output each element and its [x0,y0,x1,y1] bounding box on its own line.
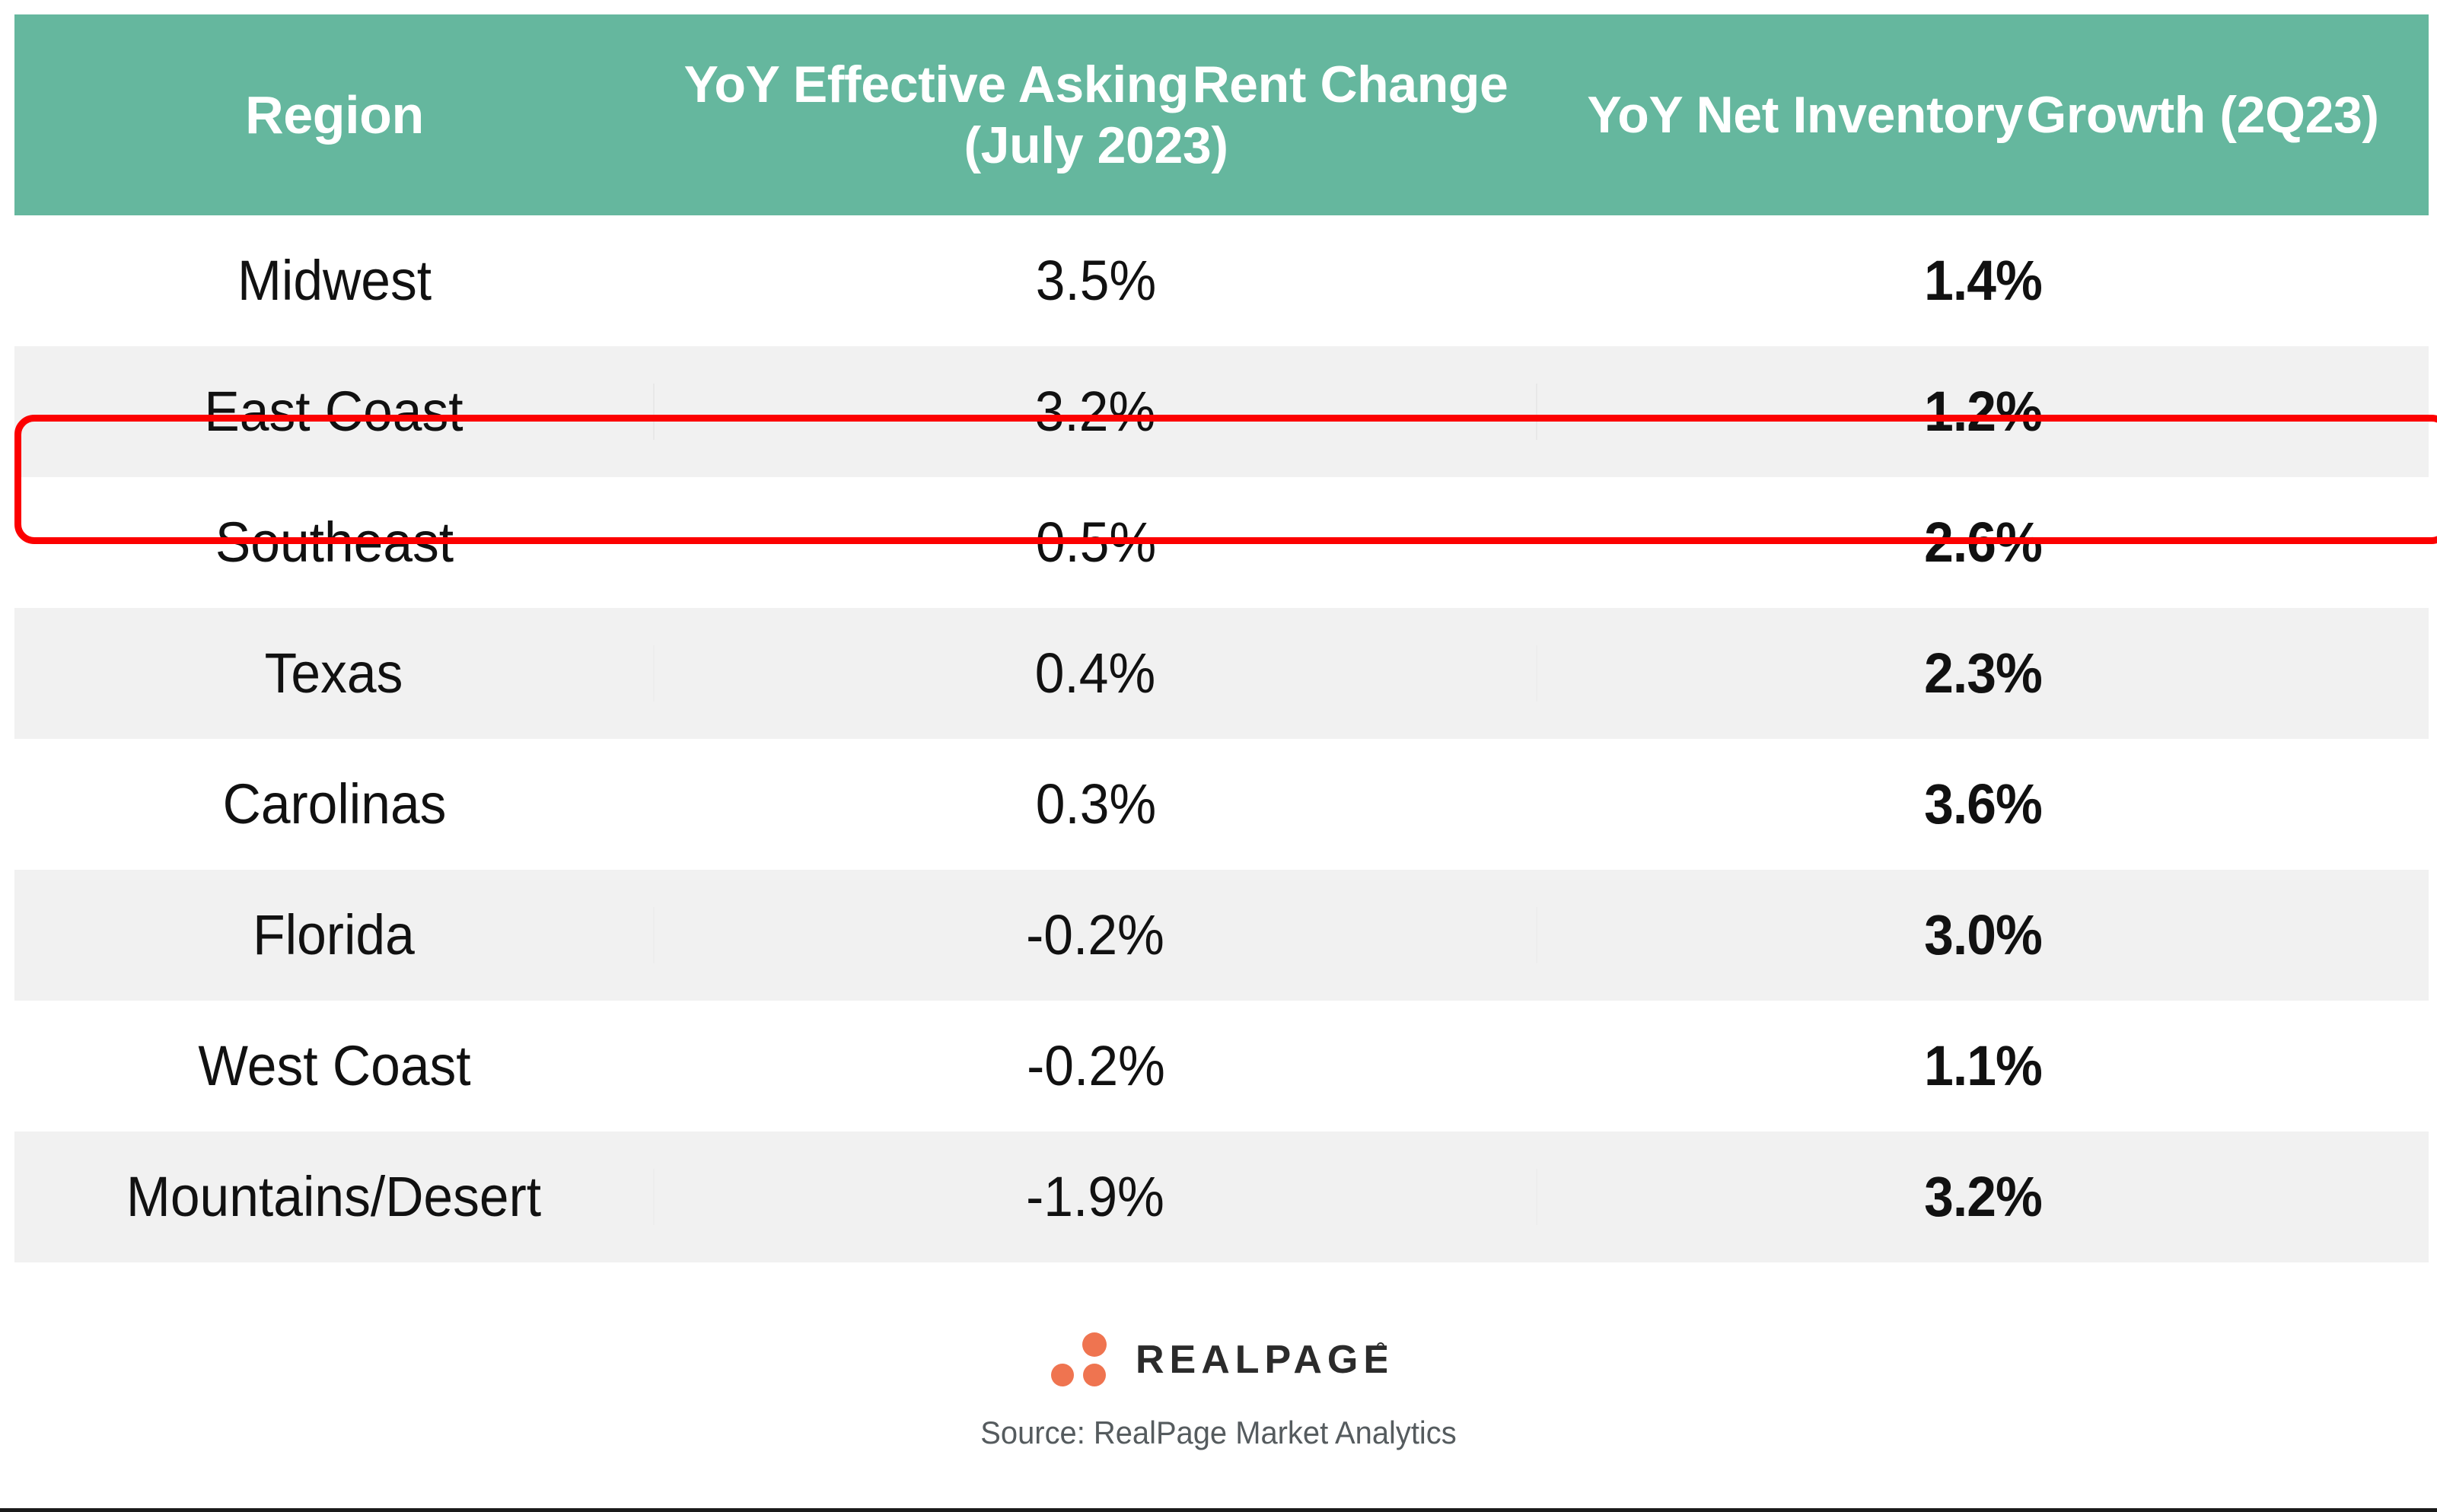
cell-rent: 0.3% [655,776,1537,832]
svg-text:REALPAGE: REALPAGE [1136,1338,1387,1382]
cell-rent-value: 3.5% [681,253,1511,309]
table-row: Florida -0.2% 3.0% [14,870,2429,1001]
cell-rent: 3.2% [655,384,1537,440]
column-header-region-label: Region [245,85,424,145]
cell-rent-value: 0.4% [681,645,1510,702]
cell-inventory-value: 3.6% [1564,776,2402,832]
cell-inventory: 1.1% [1537,1038,2429,1094]
table-row: West Coast -0.2% 1.1% [14,1001,2429,1132]
table-body: Midwest 3.5% 1.4% East Coast 3.2% 1.2% S… [14,215,2429,1262]
cell-rent-value: -0.2% [681,1038,1511,1094]
cell-region-value: Southeast [33,514,636,571]
figure-footer: REALPAGE Source: RealPage Market Analyti… [0,1330,2437,1451]
column-header-region: Region [14,84,655,147]
cell-region-value: Texas [33,645,634,702]
cell-region: Texas [14,645,655,702]
realpage-logo: REALPAGE [1050,1330,1387,1389]
cell-inventory: 2.3% [1537,645,2429,702]
column-header-rent: YoY Effective Asking Rent Change (July 2… [655,54,1537,176]
realpage-dots-icon [1050,1332,1123,1388]
realpage-wordmark: REALPAGE [1136,1337,1387,1383]
cell-inventory: 3.2% [1537,1169,2429,1225]
table-header-row: Region YoY Effective Asking Rent Change … [14,14,2429,215]
column-header-rent-line1: YoY Effective Asking [684,56,1189,113]
table-row: Texas 0.4% 2.3% [14,608,2429,739]
cell-inventory: 1.4% [1537,253,2429,309]
cell-region: Southeast [14,514,655,571]
column-header-inventory-line2: Growth (2Q23) [2026,86,2378,144]
cell-rent: -0.2% [655,907,1537,963]
cell-rent-value: 3.2% [681,384,1510,440]
table-row: Southeast 0.5% 2.6% [14,477,2429,608]
cell-region-value: West Coast [33,1038,636,1094]
table-figure: Region YoY Effective Asking Rent Change … [0,0,2437,1512]
cell-region-value: East Coast [33,384,634,440]
table-row: Carolinas 0.3% 3.6% [14,739,2429,870]
cell-rent: 0.4% [655,645,1537,702]
cell-rent: -0.2% [655,1038,1537,1094]
cell-rent-value: 0.3% [681,776,1511,832]
table-row: Mountains/Desert -1.9% 3.2% [14,1132,2429,1262]
cell-rent: -1.9% [655,1169,1537,1225]
cell-inventory-value: 1.4% [1564,253,2402,309]
cell-region: Mountains/Desert [14,1169,655,1225]
cell-inventory-value: 3.2% [1564,1169,2402,1225]
cell-region-value: Carolinas [33,776,636,832]
cell-inventory: 1.2% [1537,384,2429,440]
column-header-inventory-line1: YoY Net Inventory [1587,86,2023,144]
cell-inventory-value: 1.2% [1564,384,2402,440]
cell-inventory-value: 2.6% [1564,514,2402,571]
data-table: Region YoY Effective Asking Rent Change … [14,14,2429,1262]
cell-region: Midwest [14,253,655,309]
cell-rent-value: -0.2% [681,907,1510,963]
cell-region: West Coast [14,1038,655,1094]
cell-region-value: Midwest [33,253,636,309]
cell-region-value: Florida [33,907,634,963]
table-row-highlighted: East Coast 3.2% 1.2% [14,346,2429,477]
cell-inventory-value: 2.3% [1564,645,2402,702]
cell-inventory: 2.6% [1537,514,2429,571]
cell-inventory: 3.6% [1537,776,2429,832]
cell-region: East Coast [14,384,655,440]
cell-region: Carolinas [14,776,655,832]
cell-inventory: 3.0% [1537,907,2429,963]
cell-region-value: Mountains/Desert [33,1169,634,1225]
cell-inventory-value: 3.0% [1564,907,2402,963]
cell-rent: 3.5% [655,253,1537,309]
cell-inventory-value: 1.1% [1564,1038,2402,1094]
cell-rent-value: 0.5% [681,514,1511,571]
column-header-inventory: YoY Net Inventory Growth (2Q23) [1537,84,2429,145]
cell-region: Florida [14,907,655,963]
cell-rent-value: -1.9% [681,1169,1510,1225]
source-note: Source: RealPage Market Analytics [61,1415,2376,1451]
table-row: Midwest 3.5% 1.4% [14,215,2429,346]
cell-rent: 0.5% [655,514,1537,571]
